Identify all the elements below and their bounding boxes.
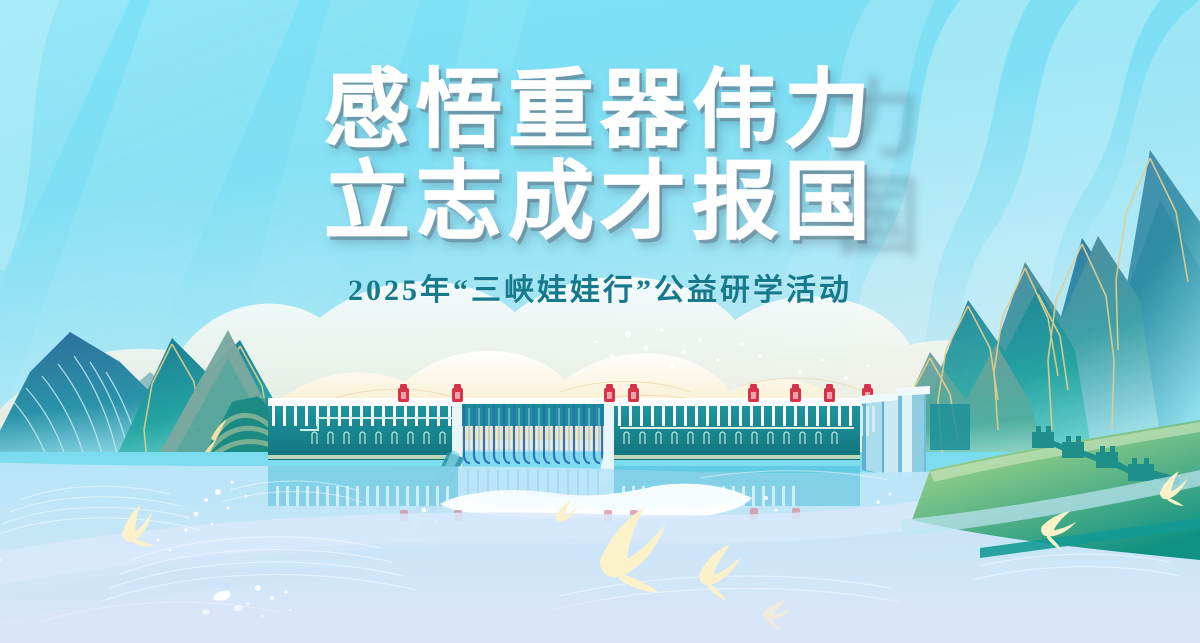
ship-lift-towers (860, 386, 930, 480)
poster-banner: 力 国 感悟重器伟力 立志成才报国 2025年“三峡娃娃行”公益研学活动 (0, 0, 1200, 643)
scene-illustration (0, 0, 1200, 643)
